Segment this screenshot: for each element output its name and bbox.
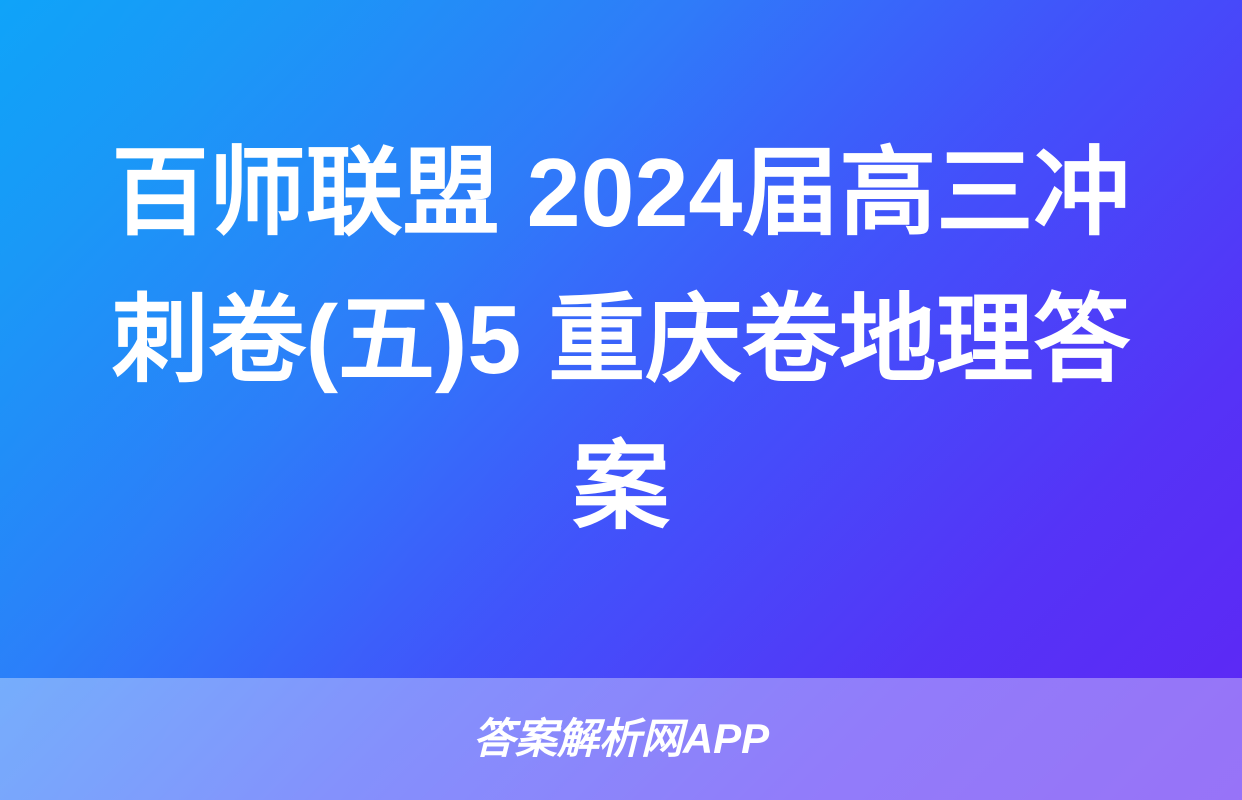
watermark-band: 答案解析网APP: [0, 678, 1242, 800]
page-title: 百师联盟 2024届高三冲刺卷(五)5 重庆卷地理答案: [81, 119, 1161, 560]
headline-area: 百师联盟 2024届高三冲刺卷(五)5 重庆卷地理答案: [0, 0, 1242, 678]
poster-canvas: 百师联盟 2024届高三冲刺卷(五)5 重庆卷地理答案 答案解析网APP: [0, 0, 1242, 800]
watermark-text: 答案解析网APP: [473, 718, 769, 760]
